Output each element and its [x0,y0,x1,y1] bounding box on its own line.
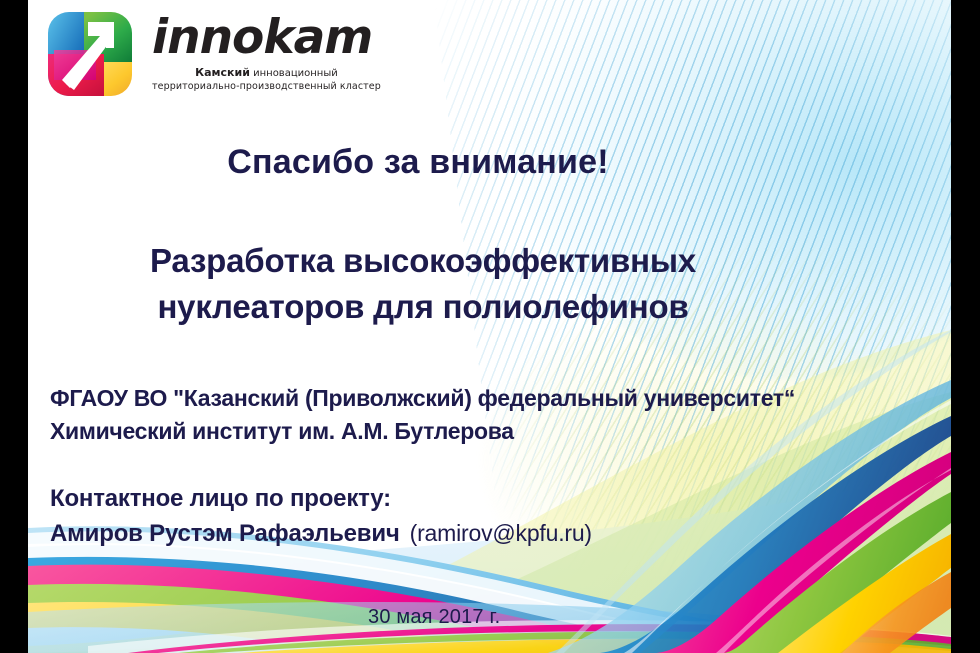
contact-name: Амиров Рустэм Рафаэльевич [50,520,400,547]
contact-person-row: Амиров Рустэм Рафаэльевич(ramirov@kpfu.r… [50,517,592,552]
right-black-border [951,0,980,653]
left-black-border [0,0,28,653]
project-title-line-1: Разработка высокоэффективных [28,238,818,284]
slide-date: 30 мая 2017 г. [368,606,500,629]
contact-block: Контактное лицо по проекту: Амиров Рустэ… [50,482,592,552]
affiliation-institute: Химический институт им. А.М. Бутлерова [50,415,795,448]
slide-canvas: innokam Камский инновационный территориа… [28,0,951,653]
affiliation-block: ФГАОУ ВО "Казанский (Приволжский) федера… [50,382,795,447]
project-title: Разработка высокоэффективных нуклеаторов… [28,238,818,329]
contact-email[interactable]: (ramirov@kpfu.ru) [410,520,592,546]
affiliation-university: ФГАОУ ВО "Казанский (Приволжский) федера… [50,382,795,415]
slide-content: Спасибо за внимание! Разработка высокоэф… [28,0,951,653]
thanks-heading: Спасибо за внимание! [28,143,808,182]
presentation-slide: innokam Камский инновационный территориа… [0,0,980,653]
project-title-line-2: нуклеаторов для полиолефинов [28,284,818,330]
contact-label: Контактное лицо по проекту: [50,482,592,517]
